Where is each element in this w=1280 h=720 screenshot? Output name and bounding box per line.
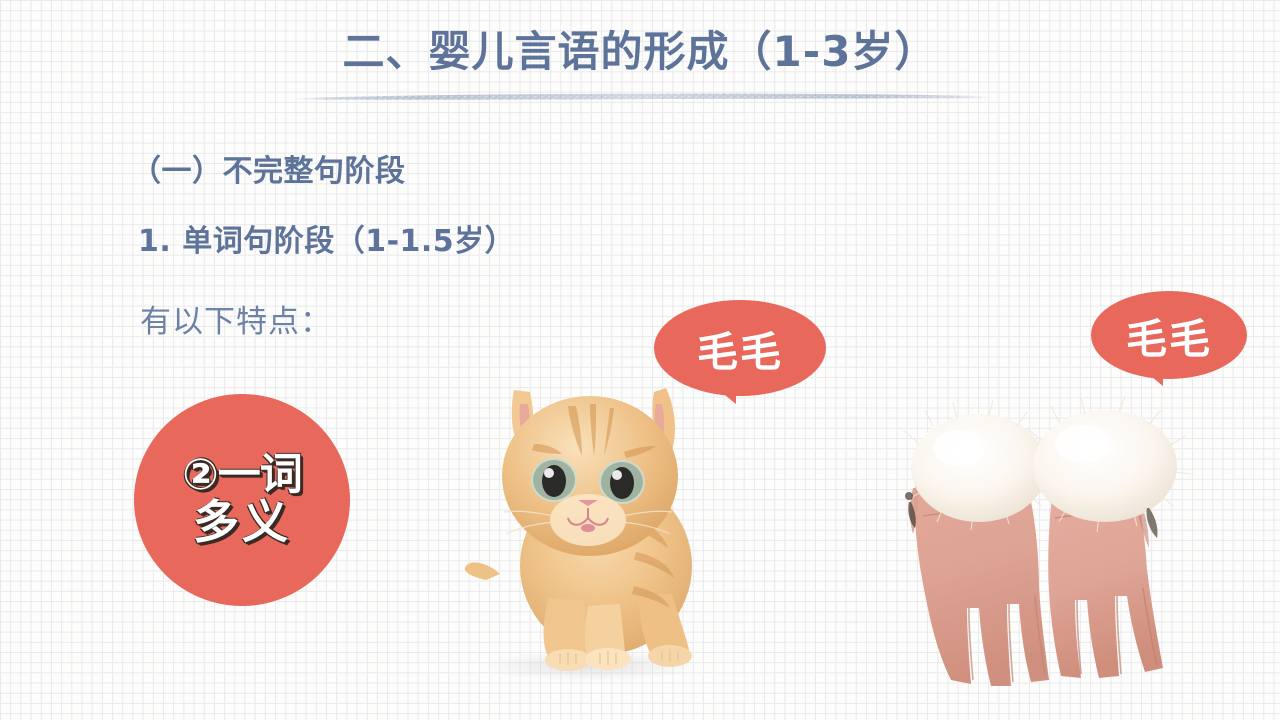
glove-left (903, 400, 1057, 686)
badge-line-primary: ②一词 (182, 454, 301, 498)
page-title: 二、婴儿言语的形成（1-3岁） (0, 28, 1280, 76)
title-block: 二、婴儿言语的形成（1-3岁） (0, 28, 1280, 76)
bubble-text: 毛毛 (697, 318, 783, 378)
feature-badge: ②一词 多义 (134, 394, 350, 606)
glove-right (1027, 396, 1191, 678)
section-heading: （一）不完整句阶段 (131, 146, 406, 190)
title-underline-brush (292, 92, 992, 101)
glove-speech-bubble: 毛毛 (1091, 291, 1247, 379)
bubble-text: 毛毛 (1126, 305, 1212, 365)
subsection-heading: 1. 单词句阶段（1-1.5岁） (138, 216, 515, 260)
gloves-photo (893, 396, 1213, 696)
slide-canvas: 二、婴儿言语的形成（1-3岁） (0, 0, 1280, 720)
badge-line-secondary: 多义 (193, 499, 291, 546)
cat-speech-bubble: 毛毛 (654, 300, 826, 396)
lead-text: 有以下特点： (140, 296, 332, 341)
